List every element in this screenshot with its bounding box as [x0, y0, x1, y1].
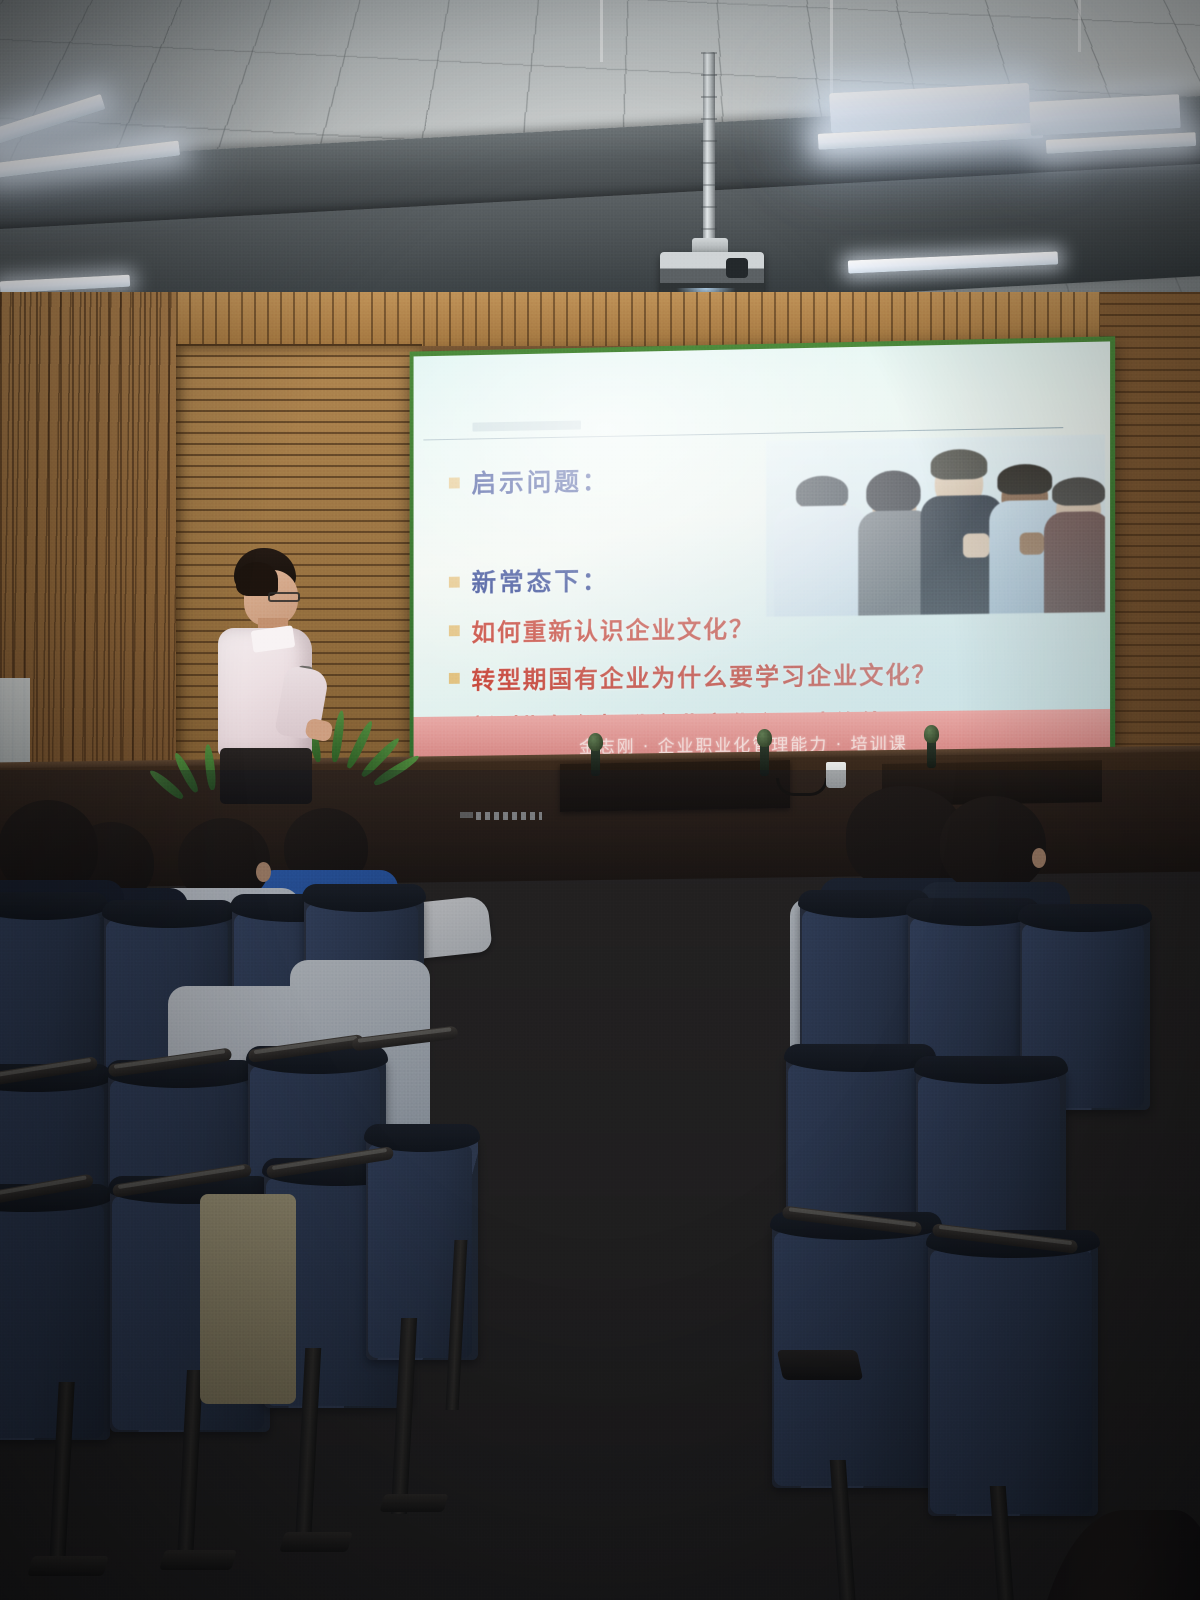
- presenter: [206, 548, 326, 798]
- slide-question-2: 转型期国有企业为什么要学习企业文化？: [471, 655, 937, 696]
- seat: [0, 1190, 110, 1440]
- slide-photo-person-hair: [866, 470, 920, 513]
- attendee-shoe: [777, 1350, 863, 1380]
- bullet-square-icon: [449, 477, 460, 488]
- slide-photo-person-hair: [931, 449, 988, 480]
- slide-photo-person-body: [1044, 511, 1105, 613]
- seat-foot: [27, 1556, 109, 1576]
- microphone-icon: [927, 738, 936, 768]
- auditorium-photo: 启示问题： 新常态下： 如何重新认识企业文化？ 转型期国有企业为什么要学习企业文…: [0, 0, 1200, 1600]
- slide-photo-person-hair: [796, 475, 848, 508]
- ceiling-seam-1: [600, 0, 603, 62]
- slide-photo-person-hair: [1052, 477, 1105, 506]
- slide-heading-1: 启示问题：: [471, 462, 609, 500]
- projector-lens-icon: [726, 258, 748, 278]
- glasses-icon: [268, 592, 300, 602]
- ceiling-seam-2: [830, 0, 833, 100]
- slide-photo-fist: [1020, 532, 1044, 555]
- slide-photo-team: [766, 434, 1105, 616]
- projector-mount-pole: [703, 52, 715, 248]
- seat-foot: [279, 1532, 353, 1552]
- seat: [0, 898, 106, 1076]
- slide-question-1: 如何重新认识企业文化？: [471, 609, 755, 648]
- seat: [928, 1236, 1098, 1516]
- slide-photo-fist: [963, 533, 989, 558]
- attendee-khaki-trousers: [200, 1194, 296, 1404]
- seat-foot: [159, 1550, 237, 1570]
- slide-question-row: 转型期国有企业为什么要学习企业文化？: [449, 655, 938, 696]
- seat-foot: [379, 1494, 448, 1512]
- presenter-hair-front: [236, 562, 278, 596]
- audience-area: 新时期如何提升企业文化和团队价值观？ 转型期国有企业为什么要学习企业文化？: [0, 770, 1200, 1600]
- slide-question-row: 如何重新认识企业文化？: [449, 609, 755, 648]
- ceiling-seam-3: [1078, 0, 1081, 52]
- screen-surface: 启示问题： 新常态下： 如何重新认识企业文化？ 转型期国有企业为什么要学习企业文…: [414, 341, 1111, 778]
- bullet-square-icon: [449, 673, 460, 684]
- projection-screen: 启示问题： 新常态下： 如何重新认识企业文化？ 转型期国有企业为什么要学习企业文…: [410, 336, 1116, 783]
- bullet-square-icon: [449, 625, 460, 636]
- bullet-square-icon: [449, 576, 460, 587]
- ceiling: [0, 0, 1200, 300]
- foreground-attendee-hair: [1028, 1510, 1200, 1600]
- slide-heading-2: 新常态下：: [471, 561, 609, 599]
- slide-photo-person-body: [774, 505, 866, 617]
- slide-heading-1-row: 启示问题：: [449, 462, 610, 501]
- slide-photo-person-hair: [997, 464, 1052, 495]
- slide-heading-2-row: 新常态下：: [449, 561, 610, 599]
